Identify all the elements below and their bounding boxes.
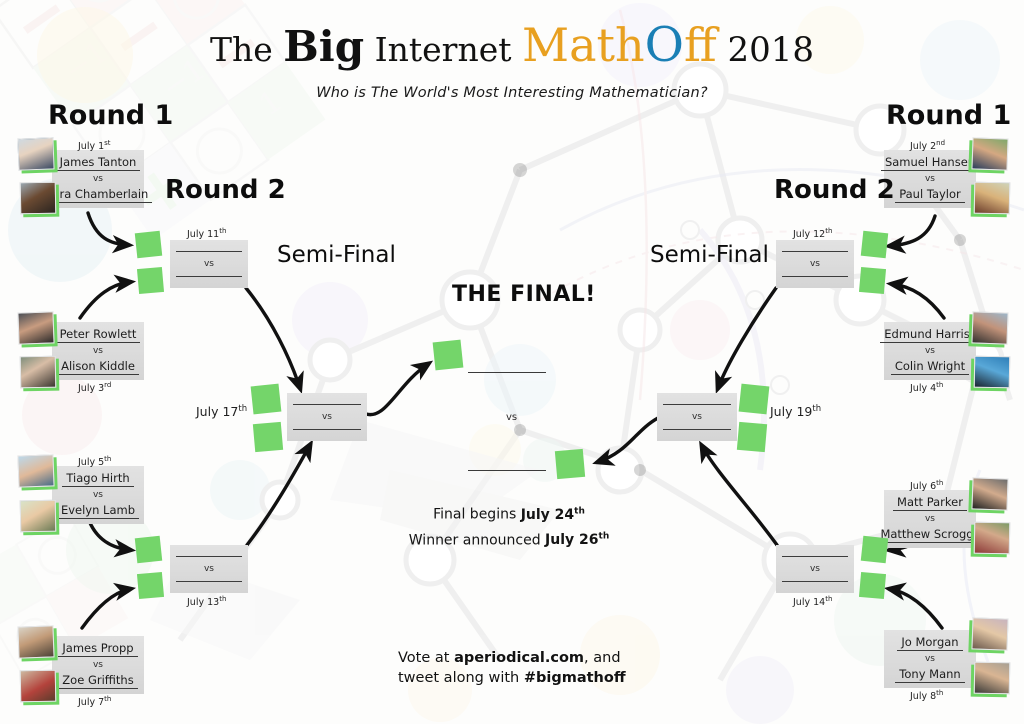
final-blank-bottom	[468, 470, 546, 471]
vs-label: vs	[93, 490, 103, 500]
match-box-r2r1[interactable]: vs	[776, 240, 854, 288]
avatar-nira-chamberlain	[20, 182, 57, 215]
match-date-semifinal-left: July 17th	[196, 404, 247, 419]
slot-placeholder-final-top	[433, 340, 464, 371]
title-word-the: The	[210, 30, 283, 69]
avatar-colin-wright	[974, 356, 1011, 389]
match-date-m6: July 6th	[910, 479, 943, 492]
player-name: Nira Chamberlain	[44, 187, 153, 203]
match-box-m5[interactable]: Tiago Hirth vs Evelyn Lamb	[52, 466, 144, 524]
match-box-m6[interactable]: Matt Parker vs Matthew Scroggs	[884, 490, 976, 548]
avatar-matthew-scroggs	[974, 522, 1011, 555]
avatar-samuel-hansen	[971, 137, 1008, 170]
name-blank	[176, 251, 242, 252]
vs-label: vs	[810, 259, 820, 269]
player-name: Peter Rowlett	[56, 327, 141, 343]
title-word-ff: ff	[684, 18, 717, 72]
page-subtitle: Who is The World's Most Interesting Math…	[0, 85, 1024, 101]
name-blank	[782, 581, 848, 582]
slot-placeholder-sfl-bottom	[253, 422, 283, 452]
avatar-tiago-hirth	[17, 454, 54, 487]
slot-placeholder-r2l1-bottom	[137, 267, 164, 294]
slot-placeholder-sfr-top	[739, 384, 770, 415]
avatar-james-propp	[17, 625, 54, 658]
title-letter-o: O	[645, 17, 684, 73]
slot-placeholder-r2r2-bottom	[859, 572, 886, 599]
final-vs-label: vs	[506, 412, 517, 423]
vs-label: vs	[692, 412, 702, 422]
heading-final: THE FINAL!	[452, 282, 596, 307]
poster-canvas: −1−11	[0, 0, 1024, 724]
name-blank	[663, 429, 730, 430]
player-name: Tiago Hirth	[62, 471, 133, 487]
player-name: Jo Morgan	[897, 635, 962, 651]
slot-placeholder-r2l1-top	[135, 231, 162, 258]
player-name: Evelyn Lamb	[57, 503, 139, 519]
vs-label: vs	[204, 564, 214, 574]
match-box-m4[interactable]: Edmund Harriss vs Colin Wright	[884, 322, 976, 380]
heading-semifinal-left: Semi-Final	[277, 242, 396, 268]
player-name: Matthew Scroggs	[876, 527, 983, 543]
title-word-internet: Internet	[364, 30, 522, 69]
vs-label: vs	[925, 514, 935, 524]
match-date-semifinal-right: July 19th	[770, 404, 821, 419]
match-date-m8: July 8th	[910, 689, 943, 702]
title-year: 2018	[717, 30, 814, 70]
match-date-m3: July 3rd	[78, 381, 111, 394]
match-date-r2r1: July 12th	[793, 227, 832, 240]
match-date-m5: July 5th	[78, 455, 111, 468]
player-name: Alison Kiddle	[57, 359, 139, 375]
vs-label: vs	[810, 564, 820, 574]
name-blank	[293, 404, 360, 405]
player-name: Tony Mann	[895, 667, 964, 683]
heading-semifinal-right: Semi-Final	[650, 242, 769, 268]
match-box-m1[interactable]: James Tanton vs Nira Chamberlain	[52, 150, 144, 208]
match-box-m7[interactable]: James Propp vs Zoe Griffiths	[52, 636, 144, 694]
vs-label: vs	[93, 174, 103, 184]
player-name: Zoe Griffiths	[58, 673, 137, 689]
name-blank	[782, 251, 848, 252]
player-name: Colin Wright	[891, 359, 969, 375]
avatar-jo-morgan	[971, 617, 1008, 650]
avatar-evelyn-lamb	[20, 500, 57, 533]
vote-line-2: tweet along with #bigmathoff	[398, 668, 626, 688]
slot-placeholder-r2r2-top	[861, 536, 888, 563]
slot-placeholder-r2l2-bottom	[137, 572, 164, 599]
slot-placeholder-r2r1-bottom	[859, 267, 886, 294]
player-name: Samuel Hansen	[881, 155, 979, 171]
vs-label: vs	[322, 412, 332, 422]
heading-round2-right: Round 2	[774, 175, 895, 205]
slot-placeholder-final-bottom	[555, 449, 585, 479]
name-blank	[782, 276, 848, 277]
vs-label: vs	[925, 654, 935, 664]
match-box-semifinal-right[interactable]: vs	[657, 393, 737, 441]
avatar-peter-rowlett	[17, 311, 54, 344]
vs-label: vs	[925, 346, 935, 356]
match-date-r2r2: July 14th	[793, 595, 832, 608]
heading-round2-left: Round 2	[165, 175, 286, 205]
vs-label: vs	[204, 259, 214, 269]
match-box-m8[interactable]: Jo Morgan vs Tony Mann	[884, 630, 976, 688]
slot-placeholder-sfl-top	[251, 384, 282, 415]
avatar-zoe-griffiths	[20, 670, 57, 703]
aperiodical-link[interactable]: aperiodical.com	[454, 650, 584, 666]
vs-label: vs	[93, 660, 103, 670]
avatar-tony-mann	[974, 662, 1011, 695]
title-word-math: Math	[522, 18, 645, 72]
name-blank	[176, 581, 242, 582]
final-blank-top	[468, 372, 546, 373]
slot-placeholder-r2r1-top	[861, 231, 888, 258]
avatar-james-tanton	[17, 137, 54, 170]
final-dates: Final begins July 24th Winner announced …	[389, 500, 629, 551]
page-title: The Big Internet MathOff 2018	[0, 20, 1024, 75]
final-begins-line: Final begins July 24th	[389, 500, 629, 526]
avatar-matt-parker	[971, 477, 1008, 510]
avatar-alison-kiddle	[20, 356, 57, 389]
name-blank	[176, 276, 242, 277]
match-date-m1: July 1st	[78, 139, 111, 152]
match-box-r2l2[interactable]: vs	[170, 545, 248, 593]
match-date-m2: July 2nd	[910, 139, 945, 152]
name-blank	[293, 429, 360, 430]
heading-round1-right: Round 1	[886, 100, 1011, 131]
vs-label: vs	[925, 174, 935, 184]
match-date-r2l2: July 13th	[187, 595, 226, 608]
name-blank	[663, 404, 730, 405]
player-name: Paul Taylor	[895, 187, 965, 203]
slot-placeholder-r2l2-top	[135, 536, 162, 563]
match-box-r2r2[interactable]: vs	[776, 545, 854, 593]
title-word-big: Big	[283, 22, 364, 71]
vote-line-1: Vote at aperiodical.com, and	[398, 648, 626, 668]
match-box-m2[interactable]: Samuel Hansen vs Paul Taylor	[884, 150, 976, 208]
final-winner-line: Winner announced July 26th	[389, 526, 629, 552]
vs-label: vs	[93, 346, 103, 356]
match-box-m3[interactable]: Peter Rowlett vs Alison Kiddle	[52, 322, 144, 380]
player-name: Matt Parker	[893, 495, 967, 511]
vote-callout: Vote at aperiodical.com, and tweet along…	[398, 648, 626, 688]
player-name: James Propp	[58, 641, 137, 657]
hashtag-bigmathoff[interactable]: #bigmathoff	[524, 670, 626, 686]
match-date-m7: July 7th	[78, 695, 111, 708]
match-box-r2l1[interactable]: vs	[170, 240, 248, 288]
avatar-edmund-harriss	[971, 311, 1008, 344]
player-name: James Tanton	[56, 155, 141, 171]
match-date-r2l1: July 11th	[187, 227, 226, 240]
heading-round1-left: Round 1	[48, 100, 173, 131]
avatar-paul-taylor	[974, 182, 1011, 215]
match-date-m4: July 4th	[910, 381, 943, 394]
name-blank	[782, 556, 848, 557]
match-box-semifinal-left[interactable]: vs	[287, 393, 367, 441]
name-blank	[176, 556, 242, 557]
slot-placeholder-sfr-bottom	[737, 422, 767, 452]
player-name: Edmund Harriss	[880, 327, 979, 343]
